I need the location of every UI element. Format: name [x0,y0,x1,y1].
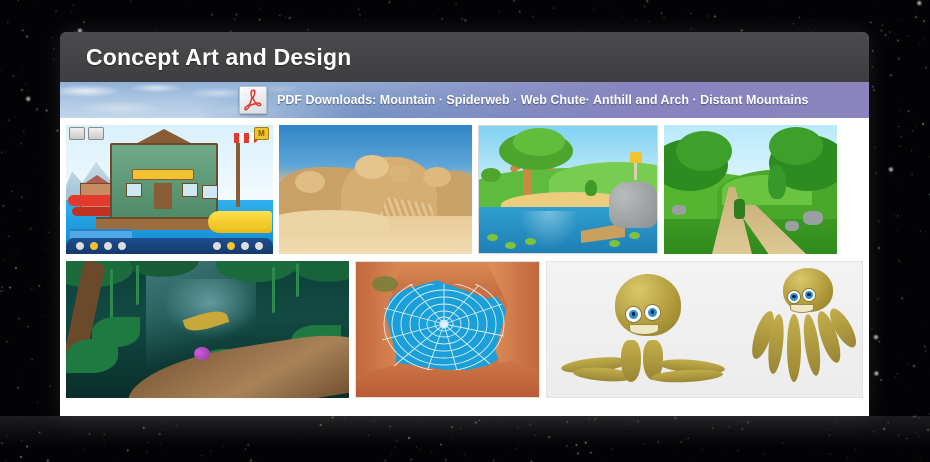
page-title: Concept Art and Design [86,44,352,71]
octopus-characters-thumbnail[interactable] [546,261,863,398]
spiderweb-arch-thumbnail[interactable] [355,261,540,398]
page-header: Concept Art and Design [60,32,869,82]
pdf-icon[interactable] [239,86,267,114]
pdf-downloads-text[interactable]: PDF Downloads: Mountain · Spiderweb · We… [277,93,808,107]
concept-art-gallery: M [60,118,869,398]
meadow-path-thumbnail[interactable] [664,125,837,254]
pdf-downloads-bar: PDF Downloads: Mountain · Spiderweb · We… [60,82,869,118]
jungle-thumbnail[interactable] [66,261,349,398]
gallery-bottom-row [60,261,869,398]
pond-tree-thumbnail[interactable] [478,125,658,254]
snow-lodge-thumbnail[interactable]: M [66,125,273,254]
gallery-top-row: M [60,125,869,254]
desert-rocks-thumbnail[interactable] [279,125,472,254]
card-reflection [60,424,869,462]
spiderweb-icon [382,284,506,370]
page-card: Concept Art and Design PDF Downloads: Mo… [60,32,869,416]
